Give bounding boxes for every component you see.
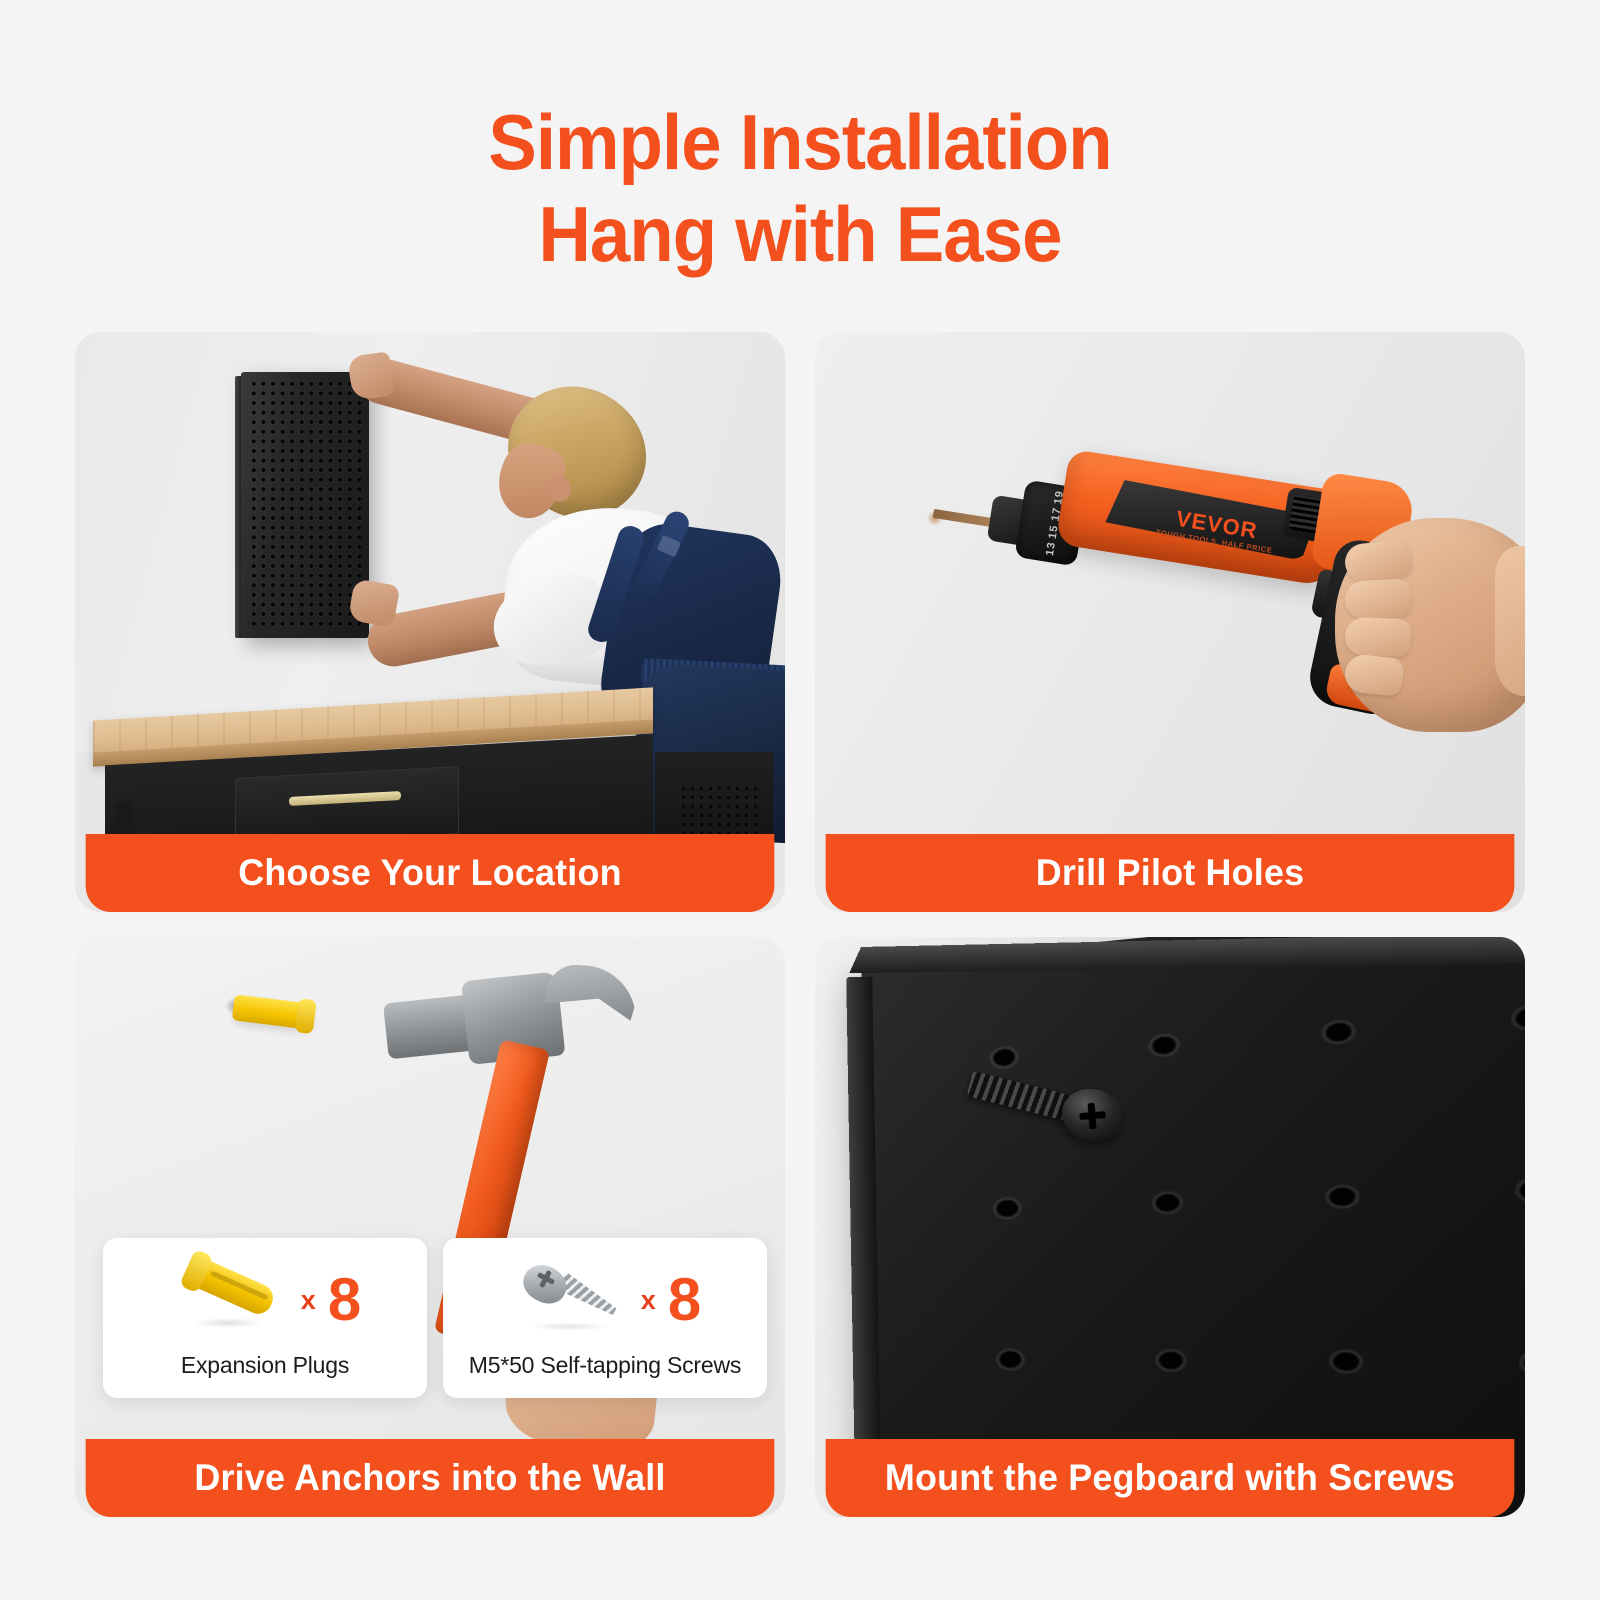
expansion-plug-icon xyxy=(169,1252,289,1348)
screw-shadow xyxy=(529,1322,609,1331)
plugs-multiplier: x xyxy=(301,1285,316,1316)
step-card-choose-location[interactable]: Choose Your Location xyxy=(75,332,785,912)
page-title-line-1: Simple Installation xyxy=(488,98,1111,186)
part-card-expansion-plugs: x 8 Expansion Plugs xyxy=(103,1238,427,1398)
part-row-screws: x 8 xyxy=(443,1248,767,1352)
parts-callout-group: x 8 Expansion Plugs x xyxy=(103,1238,767,1398)
self-tapping-screw-icon xyxy=(509,1252,629,1348)
step-card-drill-pilot-holes[interactable]: 19 17 15 13 VEVOR TOUGH TOOLS, HALF PRIC… xyxy=(815,332,1525,912)
worker-ear xyxy=(549,476,571,502)
page-title-line-2: Hang with Ease xyxy=(56,188,1544,280)
screws-label: M5*50 Self-tapping Screws xyxy=(469,1352,741,1379)
step-2-photo: 19 17 15 13 VEVOR TOUGH TOOLS, HALF PRIC… xyxy=(815,332,1525,912)
page-title: Simple Installation Hang with Ease xyxy=(56,96,1544,280)
step-3-caption: Drive Anchors into the Wall xyxy=(86,1439,775,1517)
finger-middle xyxy=(1344,578,1412,619)
steps-grid: Choose Your Location 19 17 15 13 VEVOR xyxy=(75,332,1525,1547)
plugs-quantity: 8 xyxy=(328,1270,361,1330)
plugs-label: Expansion Plugs xyxy=(181,1352,349,1379)
step-3-photo xyxy=(75,937,785,1517)
hammer-striking-face xyxy=(383,994,476,1059)
step-card-drive-anchors[interactable]: x 8 Expansion Plugs x xyxy=(75,937,785,1517)
step-2-caption: Drill Pilot Holes xyxy=(826,834,1515,912)
finger-pinky xyxy=(1343,653,1405,697)
torque-value-13: 13 xyxy=(1044,541,1058,557)
screws-multiplier: x xyxy=(641,1285,656,1316)
step-1-photo xyxy=(75,332,785,912)
step-4-caption: Mount the Pegboard with Screws xyxy=(826,1439,1515,1517)
plug-illustration xyxy=(186,1256,277,1318)
operator-wrist xyxy=(1495,546,1525,696)
pegboard-holes xyxy=(249,379,361,631)
operator-fingers xyxy=(1345,542,1431,702)
part-card-screws: x 8 M5*50 Self-tapping Screws xyxy=(443,1238,767,1398)
plug-shadow xyxy=(191,1318,265,1328)
black-pegboard-panel xyxy=(241,372,369,638)
yellow-expansion-plug-in-wall xyxy=(232,994,313,1029)
screw-threaded-shaft xyxy=(556,1272,620,1320)
pegboard-hole-grid xyxy=(928,937,1525,1517)
finger-ring xyxy=(1344,617,1411,657)
part-row-plugs: x 8 xyxy=(103,1248,427,1352)
screws-quantity: 8 xyxy=(668,1270,701,1330)
step-1-caption: Choose Your Location xyxy=(86,834,775,912)
step-4-photo xyxy=(815,937,1525,1517)
infographic-page: Simple Installation Hang with Ease xyxy=(0,0,1600,1600)
finger-index xyxy=(1343,539,1413,584)
step-card-mount-pegboard[interactable]: Mount the Pegboard with Screws xyxy=(815,937,1525,1517)
